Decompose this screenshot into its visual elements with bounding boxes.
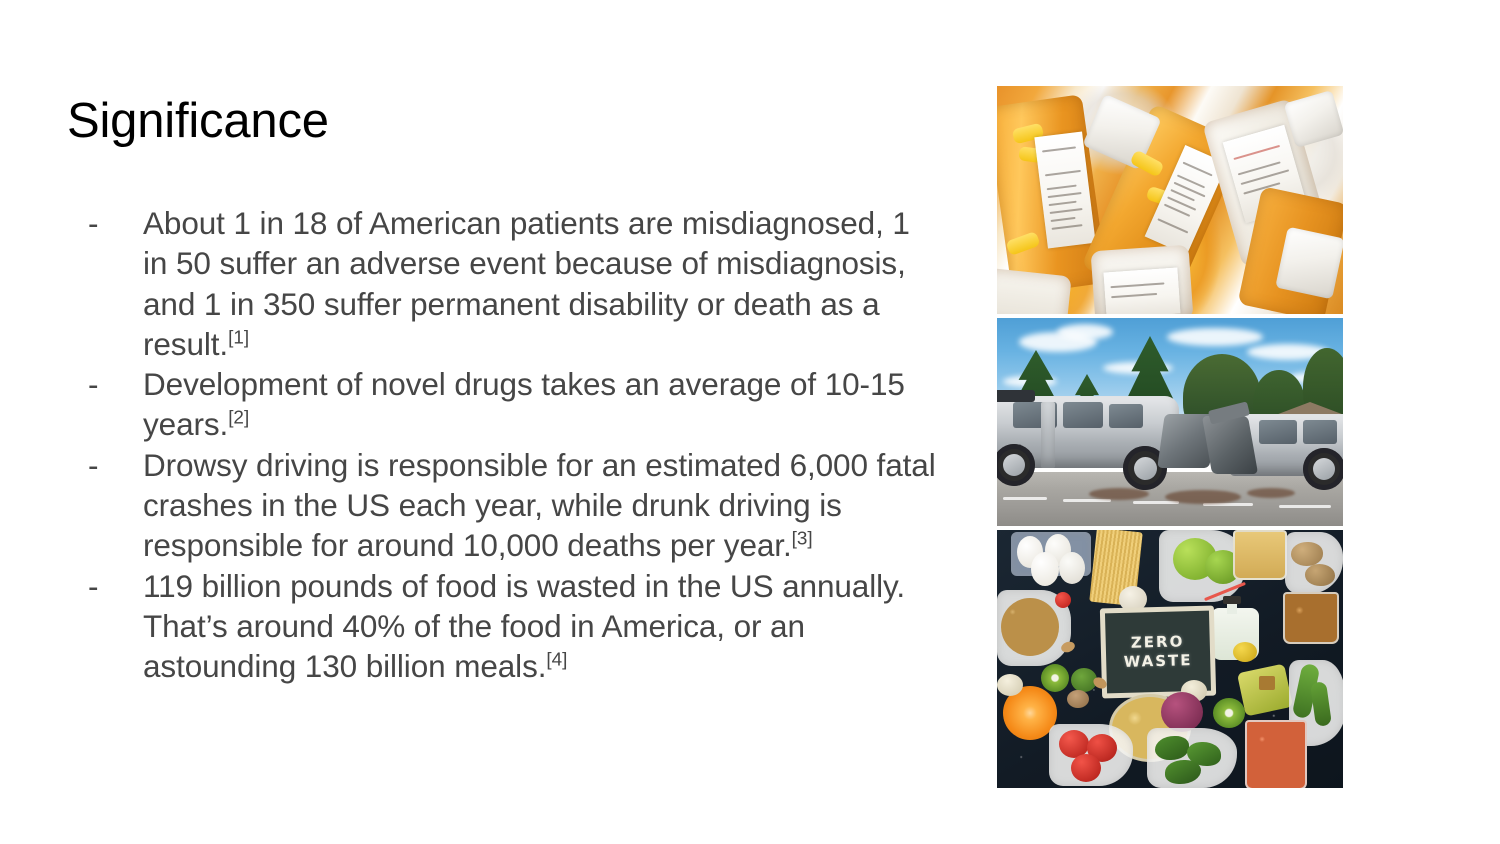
list-item: - Drowsy driving is responsible for an e… (80, 445, 940, 566)
bullet-body: About 1 in 18 of American patients are m… (143, 205, 910, 362)
bullet-marker: - (80, 445, 143, 485)
page-title: Significance (67, 93, 329, 149)
image-zero-waste-food: ZERO WASTE (997, 530, 1343, 788)
citation-ref: [3] (792, 529, 813, 550)
bullet-text: About 1 in 18 of American patients are m… (143, 203, 940, 364)
bullet-marker: - (80, 203, 143, 243)
list-item: - Development of novel drugs takes an av… (80, 364, 940, 445)
bullet-marker: - (80, 364, 143, 404)
citation-ref: [4] (546, 650, 567, 671)
bullet-list: - About 1 in 18 of American patients are… (80, 203, 940, 687)
bullet-text: Drowsy driving is responsible for an est… (143, 445, 940, 566)
list-item: - 119 billion pounds of food is wasted i… (80, 566, 940, 687)
bullet-text: Development of novel drugs takes an aver… (143, 364, 940, 445)
chalkboard-line-2: WASTE (1123, 651, 1192, 672)
bullet-body: 119 billion pounds of food is wasted in … (143, 568, 905, 685)
image-car-crash (997, 318, 1343, 526)
citation-ref: [1] (228, 327, 249, 348)
bullet-text: 119 billion pounds of food is wasted in … (143, 566, 940, 687)
image-prescription-pill-bottles (997, 86, 1343, 314)
chalkboard-line-1: ZERO (1130, 633, 1184, 653)
slide-canvas: Significance - About 1 in 18 of American… (0, 0, 1500, 844)
image-stack: ZERO WASTE (997, 86, 1343, 788)
bullet-body: Development of novel drugs takes an aver… (143, 366, 905, 442)
bullet-body: Drowsy driving is responsible for an est… (143, 447, 936, 564)
list-item: - About 1 in 18 of American patients are… (80, 203, 940, 364)
bullet-marker: - (80, 566, 143, 606)
citation-ref: [2] (228, 408, 249, 429)
